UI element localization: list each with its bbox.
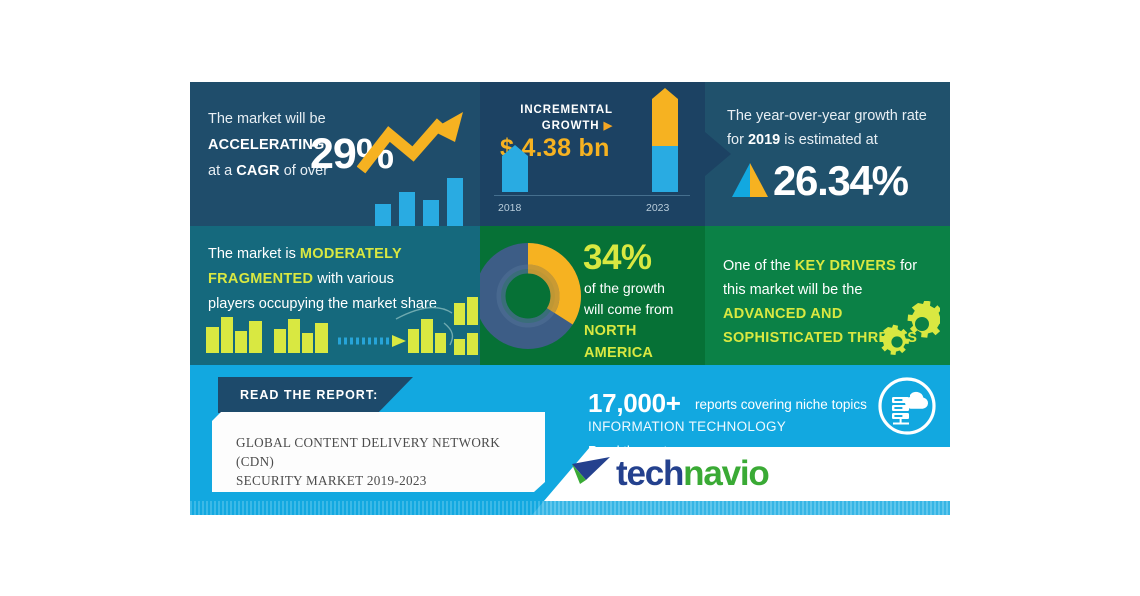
- donut-icon: [480, 242, 582, 350]
- frag-line2-strong: FRAGMENTED: [208, 271, 313, 287]
- kd-line1-suffix: for: [896, 258, 917, 274]
- frag-line2-suffix: with various: [313, 271, 394, 287]
- kd-line1-strong: KEY DRIVERS: [795, 258, 896, 274]
- bar-2018-label: 2018: [498, 202, 521, 214]
- bar-2023-label: 2023: [646, 202, 669, 214]
- yoy-line2-prefix: for: [727, 132, 748, 148]
- technavio-paper-plane-icon: [570, 454, 612, 490]
- cagr-line1-strong: ACCELERATING: [208, 137, 325, 153]
- row-market-characteristics: The market is MODERATELY FRAGMENTED with…: [190, 226, 950, 365]
- panel-region-share: 34% of the growth will come from NORTH A…: [480, 226, 705, 365]
- row-market-metrics: The market will be ACCELERATING at a CAG…: [190, 82, 950, 226]
- bar-4: [447, 178, 463, 226]
- panel-key-drivers: One of the KEY DRIVERS for this market w…: [705, 226, 950, 365]
- bar-2023-base: [652, 146, 678, 192]
- technavio-logo[interactable]: technavio: [570, 454, 769, 494]
- bar-2018: [502, 145, 528, 192]
- cagr-line2-prefix: at a: [208, 163, 236, 179]
- incremental-label-line1: INCREMENTAL: [520, 104, 613, 116]
- yoy-value-row: 26.34%: [729, 160, 908, 202]
- logo-text-navio: navio: [683, 454, 768, 494]
- cagr-line2-strong: CAGR: [236, 163, 280, 179]
- bar-2018-body: [502, 156, 528, 192]
- play-triangle-icon: ▶: [604, 120, 613, 132]
- bar-2023-tip: [652, 88, 678, 99]
- kd-line1-prefix: One of the: [723, 258, 795, 274]
- region-line1: of the growth: [584, 280, 665, 296]
- yoy-line2-suffix: is estimated at: [780, 132, 878, 148]
- panel-incremental-growth: INCREMENTAL GROWTH ▶ $ 4.38 bn 2018 2023: [480, 82, 705, 226]
- report-title-line2: SECURITY MARKET 2019-2023: [236, 473, 427, 488]
- bar-2023-increment: [652, 99, 678, 146]
- chart-baseline: [494, 195, 690, 196]
- bar-1: [375, 204, 391, 226]
- read-the-report-tab[interactable]: READ THE REPORT:: [218, 377, 413, 413]
- infographic-canvas: The market will be ACCELERATING at a CAG…: [190, 82, 950, 515]
- bar-2023: [652, 88, 678, 192]
- cagr-bar-chart: [375, 178, 471, 226]
- report-card[interactable]: GLOBAL CONTENT DELIVERY NETWORK (CDN) SE…: [212, 412, 545, 492]
- incremental-label-line2: GROWTH: [542, 120, 600, 132]
- up-triangle-icon: [729, 161, 771, 199]
- reports-subtitle: reports covering niche topics: [695, 397, 867, 412]
- yoy-year: 2019: [748, 132, 780, 148]
- region-line2: will come from: [584, 301, 673, 317]
- bar-3: [423, 200, 439, 226]
- panel-yoy-growth: The year-over-year growth rate for 2019 …: [705, 82, 950, 226]
- region-share-value: 34%: [583, 238, 652, 278]
- reports-category: INFORMATION TECHNOLOGY: [588, 419, 786, 434]
- frag-line1-prefix: The market is: [208, 246, 300, 262]
- cloud-server-icon: [876, 375, 938, 437]
- row-report-cta: READ THE REPORT: GLOBAL CONTENT DELIVERY…: [190, 365, 950, 515]
- yoy-value: 26.34%: [773, 160, 908, 202]
- region-share-description: of the growth will come from NORTH AMERI…: [584, 278, 705, 364]
- yoy-description: The year-over-year growth rate for 2019 …: [727, 104, 932, 152]
- bar-2: [399, 192, 415, 226]
- region-donut-chart: [480, 242, 582, 355]
- report-title: GLOBAL CONTENT DELIVERY NETWORK (CDN) SE…: [236, 433, 529, 490]
- kd-line2: this market will be the: [723, 282, 862, 298]
- cagr-line1-prefix: The market will be: [208, 111, 326, 127]
- incremental-growth-label: INCREMENTAL GROWTH ▶: [520, 102, 613, 134]
- kd-line3: ADVANCED AND: [723, 306, 843, 322]
- panel-cagr: The market will be ACCELERATING at a CAG…: [190, 82, 480, 226]
- bar-2018-tip: [502, 145, 528, 156]
- panel-fragmentation: The market is MODERATELY FRAGMENTED with…: [190, 226, 480, 365]
- region-name: NORTH AMERICA: [584, 323, 653, 361]
- gears-icon: [872, 301, 940, 357]
- yoy-line1: The year-over-year growth rate: [727, 108, 927, 124]
- market-players-diagram-icon: [196, 297, 480, 359]
- frag-line1-strong: MODERATELY: [300, 246, 402, 262]
- logo-text-tech: tech: [616, 454, 683, 494]
- report-title-line1: GLOBAL CONTENT DELIVERY NETWORK (CDN): [236, 435, 500, 469]
- reports-count: 17,000+: [588, 388, 681, 419]
- growth-arrow-icon: [357, 108, 475, 180]
